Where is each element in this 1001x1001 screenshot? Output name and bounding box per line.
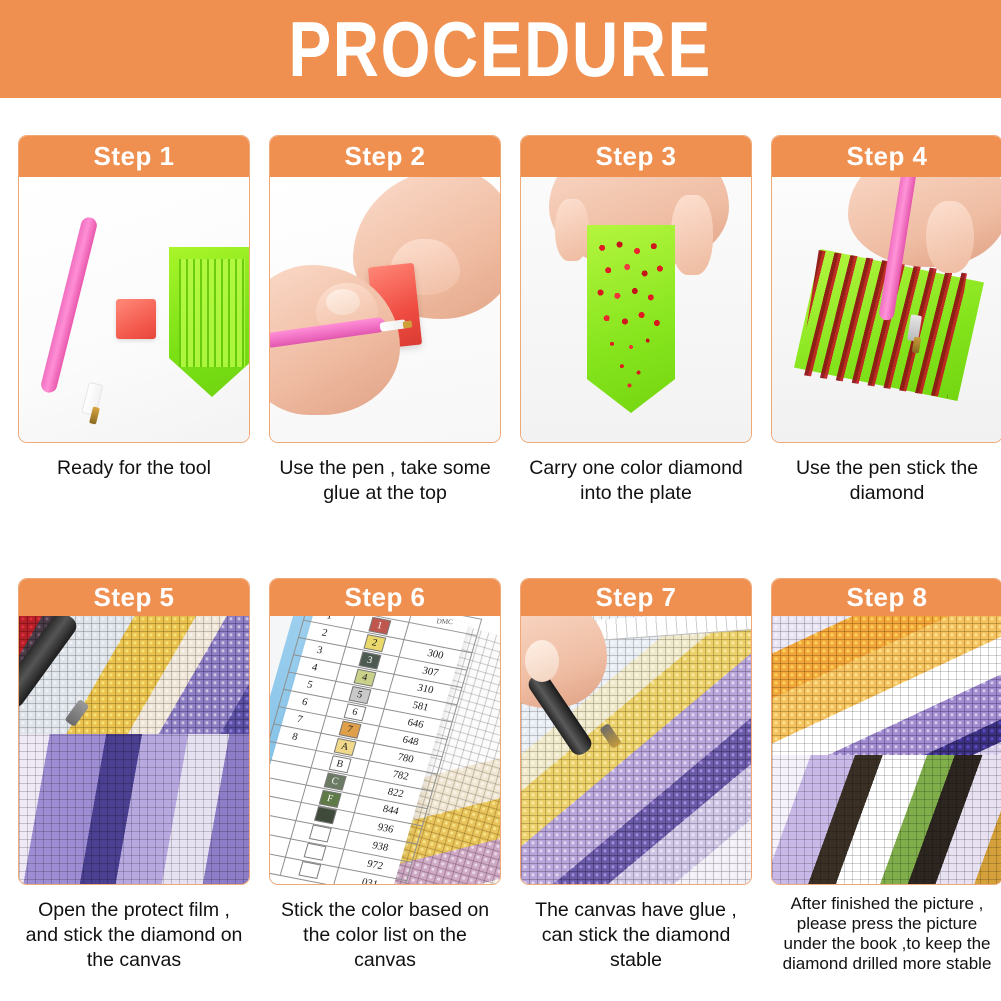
step-card-1[interactable]: Step 1	[18, 135, 250, 443]
step-image-4	[772, 177, 1001, 442]
glue-square-icon	[116, 299, 156, 339]
step-caption-3: Carry one color diamond into the plate	[520, 456, 752, 506]
step-cell-5: Step 5 Open the protect film , and stick…	[18, 578, 250, 974]
step-caption-6: Stick the color based on the color list …	[269, 898, 501, 973]
symbol-chip: 7	[338, 721, 361, 739]
symbol-chip	[314, 806, 337, 824]
step-header-8: Step 8	[772, 579, 1001, 616]
fingernail-icon	[326, 289, 360, 315]
red-diamonds-icon	[593, 235, 669, 395]
step-cell-4: Step 4 Use the pen stick the diamond	[771, 135, 1001, 506]
step-header-4: Step 4	[772, 136, 1001, 177]
step-cell-6: Step 6 Serial Symbol DMC	[269, 578, 501, 974]
step-caption-5: Open the protect film , and stick the di…	[18, 898, 250, 973]
step-card-8[interactable]: Step 8	[771, 578, 1001, 885]
symbol-chip: 6	[343, 703, 366, 721]
step-card-5[interactable]: Step 5	[18, 578, 250, 885]
step-cell-2: Step 2 Use the pen , take some glue at t…	[269, 135, 501, 506]
step-header-5: Step 5	[19, 579, 249, 616]
symbol-chip: 2	[363, 634, 386, 652]
step-image-2	[270, 177, 500, 442]
step-cell-3: Step 3 Carry one color diamond into the …	[520, 135, 752, 506]
mosaic-canvas-icon	[772, 616, 1001, 884]
symbol-chip: A	[333, 738, 356, 756]
symbol-chip: 4	[353, 669, 376, 687]
symbol-chip	[309, 824, 332, 842]
symbol-chip: 3	[358, 651, 381, 669]
finger-icon	[671, 195, 713, 275]
step-header-6: Step 6	[270, 579, 500, 616]
steps-row-top: Step 1 Ready for the tool Step 2	[18, 135, 983, 506]
step-image-1	[19, 177, 249, 442]
step-header-7: Step 7	[521, 579, 751, 616]
pen-tip-icon	[403, 320, 413, 328]
step-image-3	[521, 177, 751, 442]
step-header-2: Step 2	[270, 136, 500, 177]
step-header-3: Step 3	[521, 136, 751, 177]
step-caption-2: Use the pen , take some glue at the top	[269, 456, 501, 506]
step-caption-8: After finished the picture , please pres…	[771, 894, 1001, 974]
symbol-chip: C	[323, 772, 346, 790]
fingernail-icon	[525, 640, 559, 682]
steps-row-bottom: Step 5 Open the protect film , and stick…	[18, 578, 983, 974]
step-caption-1: Ready for the tool	[18, 456, 250, 481]
step-header-1: Step 1	[19, 136, 249, 177]
step-caption-4: Use the pen stick the diamond	[771, 456, 1001, 506]
step-image-8	[772, 616, 1001, 884]
symbol-chip: 1	[368, 617, 391, 635]
symbol-chip: B	[328, 755, 351, 773]
symbol-chip	[303, 843, 326, 861]
page-title: PROCEDURE	[289, 10, 712, 88]
symbol-chip: 5	[348, 686, 371, 704]
symbol-chip	[298, 861, 321, 879]
step-caption-7: The canvas have glue , can stick the dia…	[520, 898, 752, 973]
step-cell-7: Step 7 The canvas have glue , can stick …	[520, 578, 752, 974]
page-banner: PROCEDURE	[0, 0, 1001, 98]
step-image-7	[521, 616, 751, 884]
tray-grooves-icon	[179, 259, 245, 367]
step-cell-1: Step 1 Ready for the tool	[18, 135, 250, 506]
step-card-4[interactable]: Step 4	[771, 135, 1001, 443]
step-card-3[interactable]: Step 3	[520, 135, 752, 443]
step-cell-8: Step 8 After finished the picture , plea…	[771, 578, 1001, 974]
step-card-2[interactable]: Step 2	[269, 135, 501, 443]
step-image-5	[19, 616, 249, 884]
step-card-6[interactable]: Step 6 Serial Symbol DMC	[269, 578, 501, 885]
step-image-6: Serial Symbol DMC 1 1	[270, 616, 500, 884]
thumb-icon	[926, 201, 974, 273]
symbol-chip: F	[318, 790, 341, 808]
finger-icon	[555, 199, 589, 261]
step-card-7[interactable]: Step 7	[520, 578, 752, 885]
